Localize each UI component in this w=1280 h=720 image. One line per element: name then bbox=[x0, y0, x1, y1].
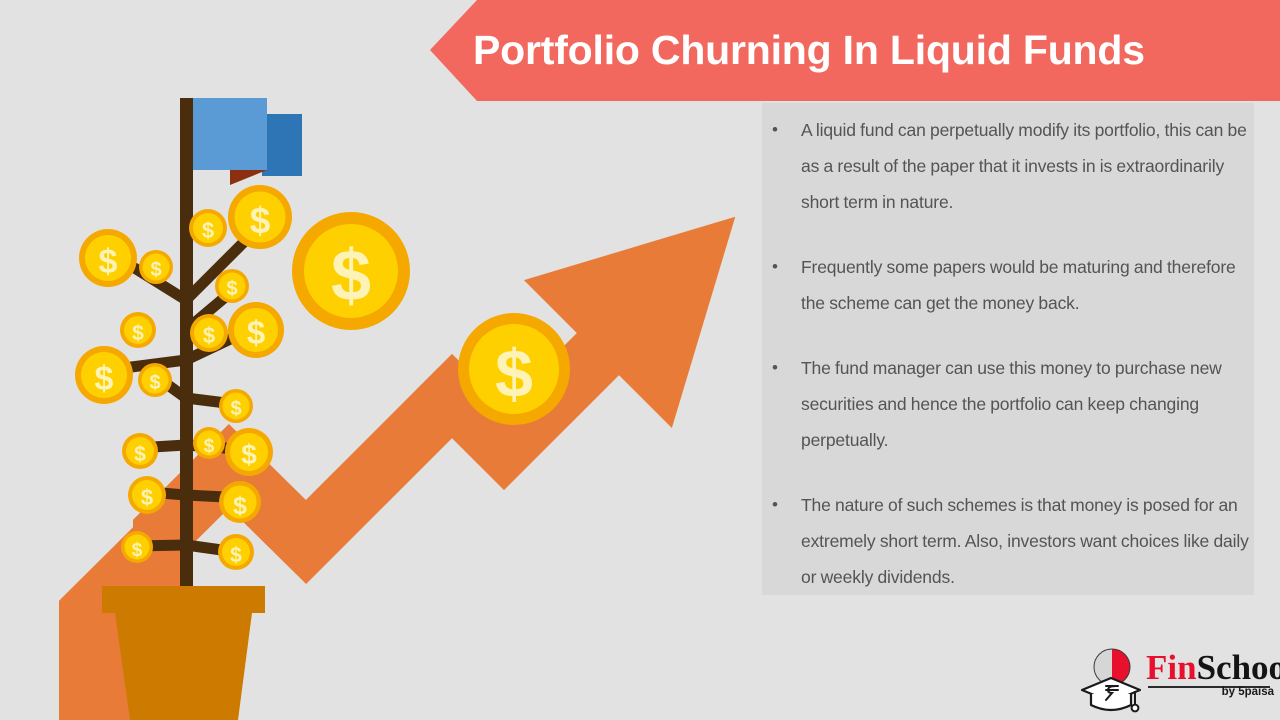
page-title: Portfolio Churning In Liquid Funds bbox=[473, 26, 1273, 74]
svg-text:$: $ bbox=[99, 243, 118, 281]
money-tree-illustration: $ $ $ $ $ $ $ $ $ $ bbox=[0, 0, 760, 720]
list-item: • The nature of such schemes is that mon… bbox=[766, 487, 1252, 595]
svg-text:$: $ bbox=[233, 492, 247, 520]
large-coin-icon: $ bbox=[292, 212, 410, 330]
svg-text:$: $ bbox=[132, 322, 144, 345]
svg-text:$: $ bbox=[134, 443, 146, 466]
finschool-logo: FinSchool by 5paisa bbox=[1078, 641, 1274, 717]
logo-tagline: by 5paisa bbox=[1186, 686, 1274, 698]
svg-text:$: $ bbox=[150, 259, 161, 281]
svg-text:$: $ bbox=[202, 218, 214, 243]
list-item-text: A liquid fund can perpetually modify its… bbox=[801, 112, 1252, 220]
svg-text:$: $ bbox=[230, 398, 241, 420]
bullet-marker-icon: • bbox=[766, 487, 801, 523]
svg-text:$: $ bbox=[241, 439, 257, 470]
illustration-svg: $ $ $ $ $ $ $ $ $ $ bbox=[0, 0, 760, 720]
list-item-text: The nature of such schemes is that money… bbox=[801, 487, 1252, 595]
list-item: • Frequently some papers would be maturi… bbox=[766, 249, 1252, 321]
list-item-text: Frequently some papers would be maturing… bbox=[801, 249, 1252, 321]
svg-text:$: $ bbox=[203, 323, 215, 348]
graduation-cap-icon bbox=[1078, 645, 1144, 717]
svg-text:$: $ bbox=[495, 336, 533, 412]
slide-canvas: $ $ $ $ $ $ $ $ $ $ bbox=[0, 0, 1280, 720]
svg-text:$: $ bbox=[250, 200, 271, 241]
logo-wordmark: FinSchool bbox=[1146, 649, 1280, 687]
bullet-marker-icon: • bbox=[766, 249, 801, 285]
svg-text:$: $ bbox=[230, 544, 242, 567]
logo-brand-primary: Fin bbox=[1146, 648, 1197, 687]
svg-text:$: $ bbox=[149, 372, 160, 394]
bullet-marker-icon: • bbox=[766, 350, 801, 386]
svg-text:$: $ bbox=[247, 314, 265, 351]
svg-text:$: $ bbox=[141, 485, 153, 510]
bullet-marker-icon: • bbox=[766, 112, 801, 148]
list-item: • A liquid fund can perpetually modify i… bbox=[766, 112, 1252, 220]
svg-text:$: $ bbox=[226, 278, 237, 300]
bullet-list: • A liquid fund can perpetually modify i… bbox=[766, 112, 1252, 595]
svg-text:$: $ bbox=[204, 436, 215, 457]
list-item: • The fund manager can use this money to… bbox=[766, 350, 1252, 458]
logo-brand-secondary: School bbox=[1197, 648, 1280, 687]
arrow-coin-icon: $ bbox=[458, 313, 570, 425]
svg-text:$: $ bbox=[331, 236, 371, 316]
svg-text:$: $ bbox=[95, 360, 114, 398]
flag-icon bbox=[190, 98, 302, 185]
tree-trunk bbox=[180, 98, 193, 598]
svg-text:$: $ bbox=[132, 540, 143, 561]
list-item-text: The fund manager can use this money to p… bbox=[801, 350, 1252, 458]
